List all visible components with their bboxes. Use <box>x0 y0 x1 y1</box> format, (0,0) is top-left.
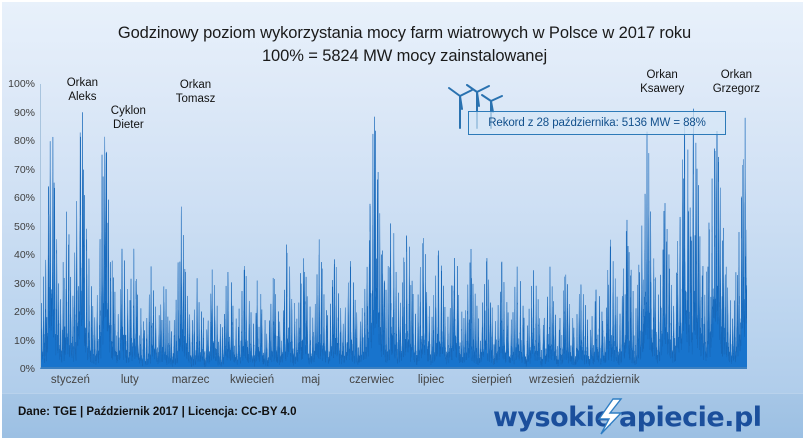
wind-power-utilisation-chart: Godzinowy poziom wykorzystania mocy farm… <box>0 0 805 440</box>
x-axis-tick-luty: luty <box>121 374 139 386</box>
record-callout-text: Rekord z 28 października: 5136 MW = 88% <box>488 117 706 129</box>
y-axis-tick-70: 70% <box>0 165 35 175</box>
annotation-orkan-ksawery: OrkanKsawery <box>640 68 684 96</box>
y-axis-tick-30: 30% <box>0 279 35 289</box>
x-axis-tick-październik: październik <box>581 374 639 386</box>
y-axis-tick-40: 40% <box>0 250 35 260</box>
y-axis-tick-10: 10% <box>0 336 35 346</box>
y-axis-tick-90: 90% <box>0 108 35 118</box>
y-axis-tick-20: 20% <box>0 307 35 317</box>
brand-logo[interactable]: wysokie apiecie.pl <box>493 397 793 435</box>
title-line-1: Godzinowy poziom wykorzystania mocy farm… <box>2 22 805 45</box>
annotation-line: Grzegorz <box>713 82 760 96</box>
x-axis-tick-maj: maj <box>302 374 321 386</box>
annotation-line: Orkan <box>176 78 216 92</box>
annotation-orkan-grzegorz: OrkanGrzegorz <box>713 68 760 96</box>
annotation-line: Tomasz <box>176 92 216 106</box>
annotation-line: Orkan <box>713 68 760 82</box>
y-axis: 100%90%80%70%60%50%40%30%20%10%0% <box>2 84 38 369</box>
x-axis-tick-styczeń: styczeń <box>51 374 90 386</box>
page-title: Godzinowy poziom wykorzystania mocy farm… <box>2 22 805 68</box>
x-axis-tick-kwiecień: kwiecień <box>230 374 274 386</box>
y-axis-tick-50: 50% <box>0 222 35 232</box>
svg-text:wysokie: wysokie <box>493 402 612 433</box>
y-axis-tick-80: 80% <box>0 136 35 146</box>
annotation-line: Cyklon <box>111 104 146 118</box>
x-axis-tick-czerwiec: czerwiec <box>349 374 394 386</box>
annotation-orkan-aleks: OrkanAleks <box>67 76 98 104</box>
footer-band: Dane: TGE | Październik 2017 | Licencja:… <box>2 393 805 438</box>
x-axis-tick-marzec: marzec <box>172 374 210 386</box>
y-axis-tick-0: 0% <box>0 364 35 374</box>
title-line-2: 100% = 5824 MW mocy zainstalowanej <box>2 45 805 68</box>
annotation-line: Orkan <box>67 76 98 90</box>
x-axis: styczeńlutymarzeckwiecieńmajczerwieclipi… <box>40 374 747 394</box>
annotation-line: Orkan <box>640 68 684 82</box>
annotation-cyklon-dieter: CyklonDieter <box>111 104 146 132</box>
annotation-orkan-tomasz: OrkanTomasz <box>176 78 216 106</box>
y-axis-tick-60: 60% <box>0 193 35 203</box>
y-axis-tick-100: 100% <box>0 79 35 89</box>
x-axis-tick-sierpień: sierpień <box>472 374 512 386</box>
x-axis-tick-lipiec: lipiec <box>418 374 444 386</box>
x-axis-tick-wrzesień: wrzesień <box>529 374 574 386</box>
annotation-line: Dieter <box>111 118 146 132</box>
svg-text:apiecie.pl: apiecie.pl <box>619 402 762 433</box>
footer-credit: Dane: TGE | Październik 2017 | Licencja:… <box>18 406 297 418</box>
annotation-line: Ksawery <box>640 82 684 96</box>
record-callout: Rekord z 28 października: 5136 MW = 88% <box>468 111 726 135</box>
annotation-line: Aleks <box>67 90 98 104</box>
